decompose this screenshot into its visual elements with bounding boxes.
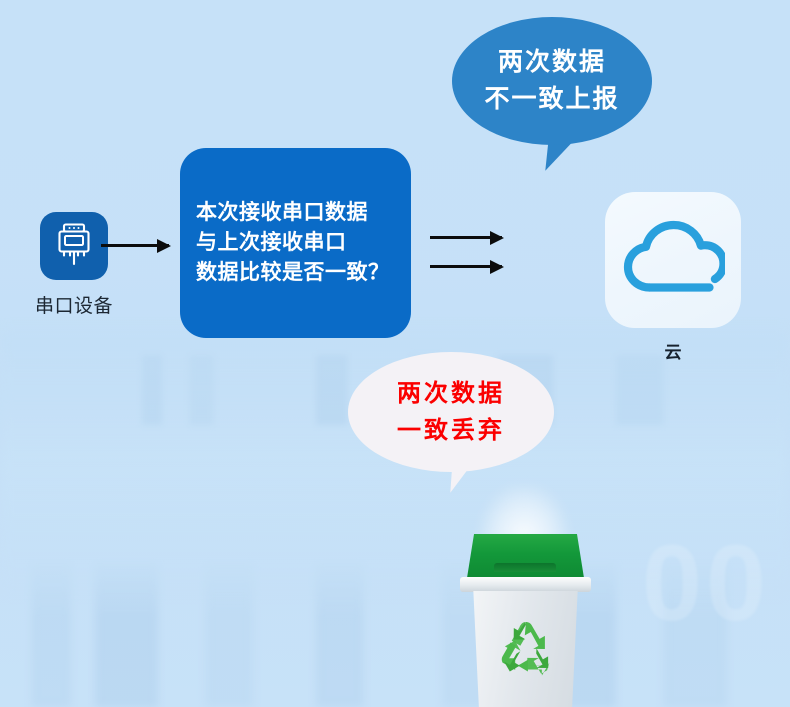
callout-discard-line-2: 一致丢弃 [397,412,505,449]
bin-rim [460,577,591,592]
callout-discard[interactable]: 两次数据 一致丢弃 [348,352,554,472]
arrow-device-to-decision [101,244,169,247]
diagram-canvas: 00 串口设备 本次接收串口数据 与上次接收串口 数 [0,0,790,707]
arrow-decision-to-cloud-lower [430,265,502,268]
node-serial-device[interactable]: 串口设备 [19,212,129,318]
decision-box[interactable]: 本次接收串口数据 与上次接收串口 数据比较是否一致？ [180,148,411,338]
callout-report-body: 两次数据 不一致上报 [452,17,652,145]
cloud-tile [605,192,741,328]
recycle-symbol-icon [496,620,556,676]
cloud-icon [621,219,725,302]
node-cloud[interactable]: 云 [605,192,741,363]
decision-box-text: 本次接收串口数据 与上次接收串口 数据比较是否一致？ [196,198,390,287]
node-recycle-bin[interactable] [458,520,593,707]
cloud-label: 云 [605,338,741,363]
bin-lid-slot [494,563,556,572]
callout-report-line-2: 不一致上报 [484,81,619,119]
bin-smoke-wisp [478,484,570,540]
callout-discard-body: 两次数据 一致丢弃 [348,352,554,472]
serial-device-icon [54,222,94,271]
serial-device-label: 串口设备 [19,291,129,318]
callout-discard-line-1: 两次数据 [397,375,505,412]
arrow-decision-to-cloud-upper [430,236,502,239]
callout-report-line-1: 两次数据 [498,44,606,82]
callout-report[interactable]: 两次数据 不一致上报 [452,17,652,145]
serial-device-tile [40,212,108,280]
